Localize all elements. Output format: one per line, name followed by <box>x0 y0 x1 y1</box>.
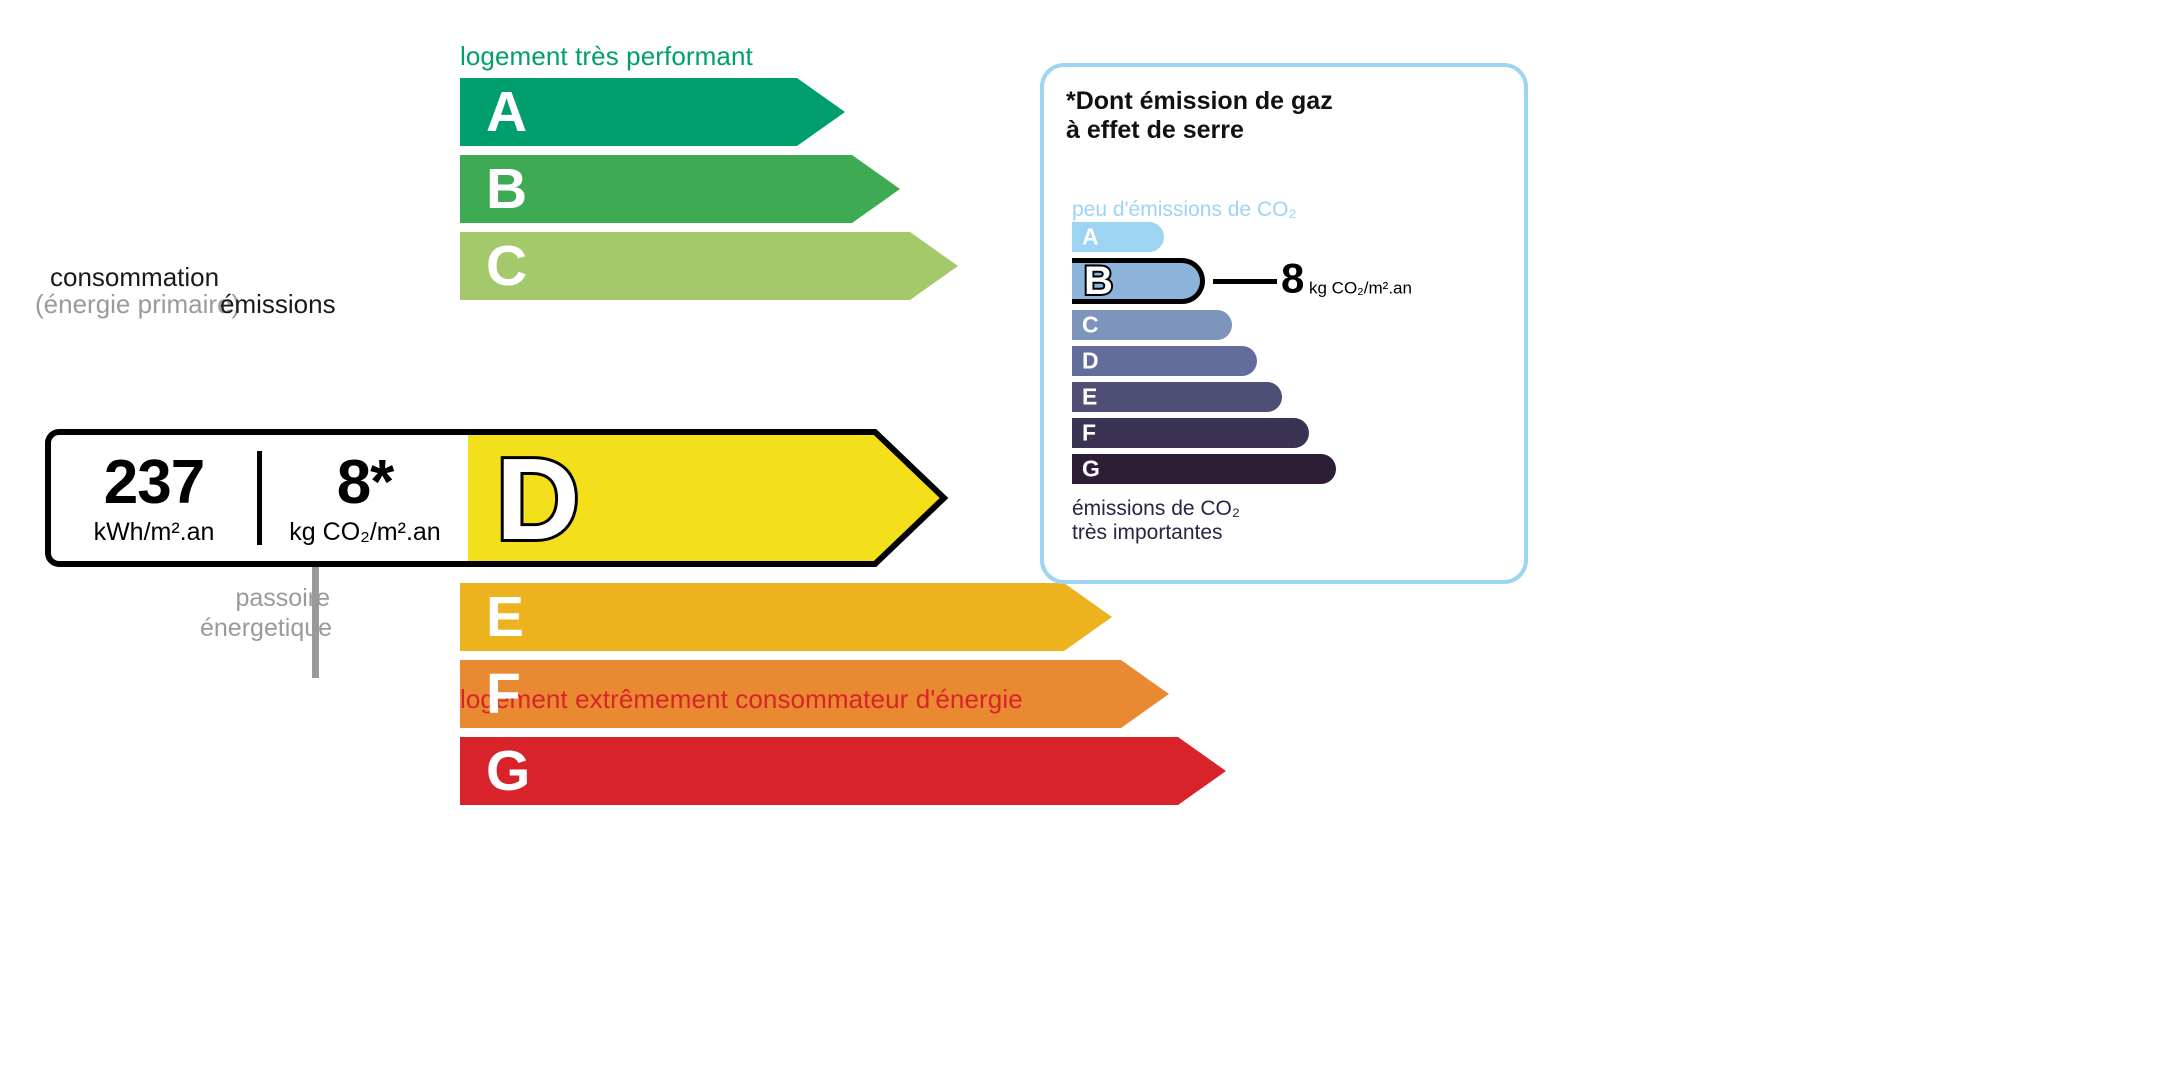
co2-bar-letter-e: E <box>1082 386 1097 409</box>
co2-bar-b-selected: B8kg CO₂/m².an <box>1072 258 1435 304</box>
co2-bar-g: G <box>1072 454 1566 484</box>
co2-bar-fill-e <box>1072 382 1282 412</box>
emission-cell: 8* kg CO₂/m².an <box>262 435 468 561</box>
top-caption: logement très performant <box>460 41 753 72</box>
co2-bar-letter-g: G <box>1082 458 1100 481</box>
co2-leader-line <box>1213 279 1277 284</box>
passoire-energetique-label: passoireénergetique <box>200 584 330 643</box>
co2-bar-letter-a: A <box>1082 226 1099 249</box>
consumption-cell: 237 kWh/m².an <box>51 435 257 561</box>
energy-class-row-c: C <box>460 232 958 300</box>
co2-bar-fill-g <box>1072 454 1336 484</box>
bottom-caption: logement extrêmement consommateur d'éner… <box>460 684 1023 715</box>
co2-emissions-panel: *Dont émission de gazà effet de serre pe… <box>1040 63 1528 584</box>
energy-class-arrow-e: E <box>460 583 1112 651</box>
energy-class-letter-e: E <box>486 589 524 646</box>
label-energie-primaire: (énergie primaire) <box>35 289 240 320</box>
co2-bar-e: E <box>1072 382 1512 412</box>
energy-class-row-b: B <box>460 155 900 223</box>
current-class-row: 237 kWh/m².an 8* kg CO₂/m².an D <box>45 429 951 567</box>
arrow-shape-c <box>460 232 958 300</box>
energy-class-letter-f: F <box>486 666 521 723</box>
value-box: 237 kWh/m².an 8* kg CO₂/m².an <box>45 429 468 567</box>
energy-class-letter-d: D <box>496 434 580 564</box>
co2-bar-fill-f <box>1072 418 1309 448</box>
co2-bar-letter-d: D <box>1082 350 1099 373</box>
energy-class-arrow-g: G <box>460 737 1226 805</box>
co2-bar-letter-b: B <box>1084 261 1113 301</box>
arrow-shape-d-selected: D <box>462 429 947 567</box>
co2-bar-a: A <box>1072 222 1394 252</box>
co2-bar-letter-c: C <box>1082 314 1099 337</box>
co2-bar-list: AB8kg CO₂/m².anCDEFG <box>1072 222 1566 490</box>
energy-class-row-g: G <box>460 737 1226 805</box>
energy-class-arrow-b: B <box>460 155 900 223</box>
co2-bar-c: C <box>1072 310 1462 340</box>
energy-class-letter-b: B <box>486 161 527 218</box>
energy-class-arrow-c: C <box>460 232 958 300</box>
energy-class-row-e: E <box>460 583 1112 651</box>
co2-bar-f: F <box>1072 418 1539 448</box>
co2-bar-letter-f: F <box>1082 422 1096 445</box>
co2-top-caption: peu d'émissions de CO₂ <box>1072 198 1297 222</box>
energy-class-arrow-a: A <box>460 78 845 146</box>
co2-bottom-caption: émissions de CO₂très importantes <box>1072 497 1240 546</box>
arrow-shape-e <box>460 583 1112 651</box>
energy-class-row-a: A <box>460 78 845 146</box>
consumption-unit: kWh/m².an <box>94 520 215 545</box>
energy-class-letter-a: A <box>486 84 527 141</box>
co2-bar-d: D <box>1072 346 1487 376</box>
arrow-shape-g <box>460 737 1226 805</box>
co2-panel-title: *Dont émission de gazà effet de serre <box>1066 87 1333 145</box>
co2-value: 8 <box>1281 257 1304 299</box>
emission-value: 8* <box>337 452 394 514</box>
co2-bar-fill-d <box>1072 346 1257 376</box>
consumption-value: 237 <box>104 452 204 514</box>
energy-class-letter-g: G <box>486 743 530 800</box>
energy-class-row-d-selected: D <box>462 429 947 567</box>
energy-class-letter-c: C <box>486 238 527 295</box>
emission-unit: kg CO₂/m².an <box>289 520 440 545</box>
co2-value-unit: kg CO₂/m².an <box>1309 280 1412 297</box>
label-emissions: émissions <box>220 289 336 320</box>
